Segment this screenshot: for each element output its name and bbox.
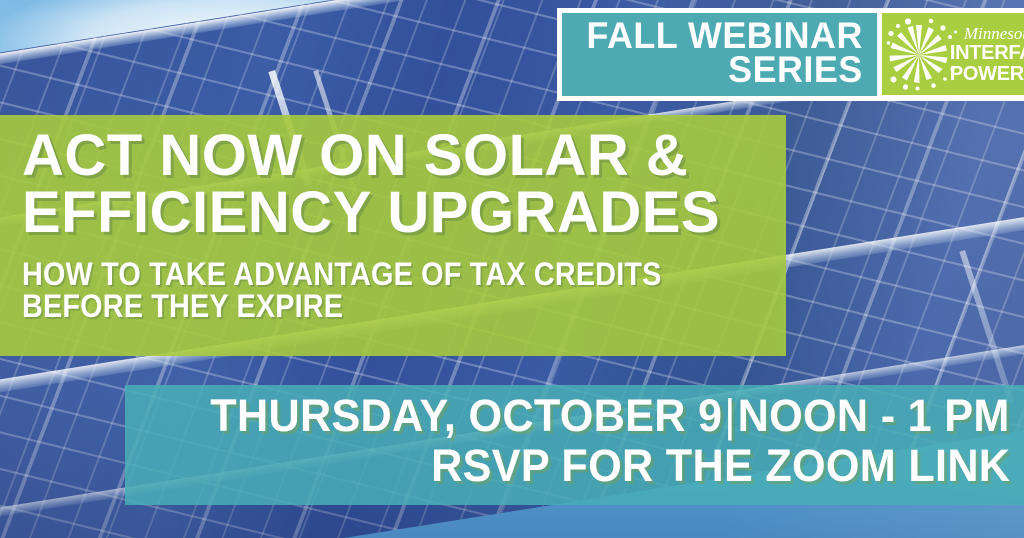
sunburst-icon — [886, 17, 960, 91]
date-time-separator: | — [723, 390, 738, 441]
headline-line-2: EFFICIENCY UPGRADES — [22, 185, 786, 242]
webinar-series-badge: FALL WEBINAR SERIES — [557, 8, 1024, 101]
logo-word-power: POWER — [950, 63, 1024, 85]
organization-logo: Minnesota INTERFAITH POWER&LIGHT — [882, 13, 1024, 95]
rsvp-call-to-action: RSVP FOR THE ZOOM LINK — [431, 441, 1010, 491]
webinar-promo-poster: FALL WEBINAR SERIES — [0, 0, 1024, 538]
subheadline-line-1: HOW TO TAKE ADVANTAGE OF TAX CREDITS — [22, 258, 710, 291]
webinar-series-line-1: FALL WEBINAR — [587, 19, 863, 53]
subheadline-line-2: BEFORE THEY EXPIRE — [22, 290, 710, 323]
headline-block: ACT NOW ON SOLAR & EFFICIENCY UPGRADES H… — [0, 115, 786, 356]
event-datetime-line: THURSDAY, OCTOBER 9|NOON - 1 PM — [211, 391, 1010, 441]
event-time: NOON - 1 PM — [738, 390, 1010, 441]
webinar-series-line-2: SERIES — [728, 53, 863, 87]
event-date: THURSDAY, OCTOBER 9 — [211, 390, 723, 441]
fall-webinar-series-box: FALL WEBINAR SERIES — [562, 13, 877, 96]
headline-line-1: ACT NOW ON SOLAR & — [22, 128, 786, 185]
event-details-bar: THURSDAY, OCTOBER 9|NOON - 1 PM RSVP FOR… — [125, 385, 1024, 505]
logo-name-line-1: INTERFAITH — [950, 43, 1024, 64]
logo-state-name: Minnesota — [950, 25, 1024, 42]
logo-wordmark: Minnesota INTERFAITH POWER&LIGHT — [950, 25, 1024, 84]
logo-name-line-2: POWER&LIGHT — [950, 64, 1024, 85]
